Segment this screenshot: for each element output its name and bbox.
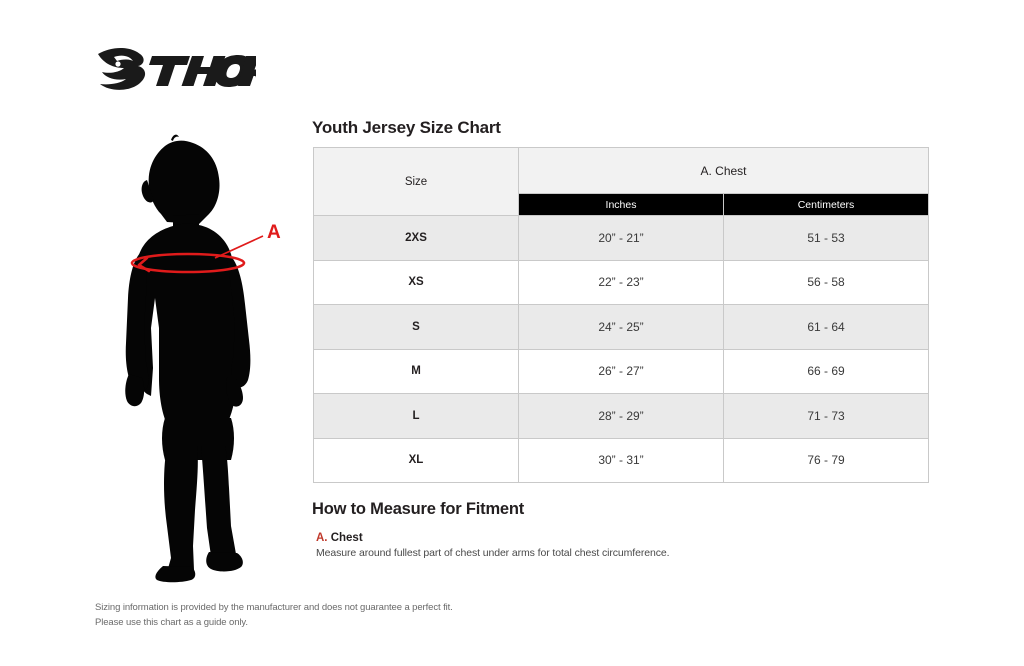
table-row: S 24” - 25” 61 - 64 (314, 305, 929, 350)
measure-description: Measure around fullest part of chest und… (316, 547, 669, 559)
size-chart-page: A Youth Jersey Size Chart Size A. Chest … (0, 0, 1024, 666)
measure-name: Chest (331, 532, 363, 544)
table-row: XS 22” - 23” 56 - 58 (314, 260, 929, 305)
cell-centimeters: 61 - 64 (724, 305, 929, 350)
cell-inches: 24” - 25” (519, 305, 724, 350)
measurement-figure: A (95, 128, 300, 583)
table-row: L 28” - 29” 71 - 73 (314, 394, 929, 439)
measure-letter: A. (316, 532, 331, 544)
thor-helmet-icon (96, 44, 256, 96)
cell-inches: 26” - 27” (519, 349, 724, 394)
cell-centimeters: 76 - 79 (724, 438, 929, 483)
header-size: Size (314, 148, 519, 216)
table-head: Size A. Chest Inches Centimeters (314, 148, 929, 216)
youth-body-silhouette: A (95, 128, 300, 583)
cell-centimeters: 66 - 69 (724, 349, 929, 394)
how-to-measure-title: How to Measure for Fitment (312, 500, 524, 519)
cell-inches: 30” - 31” (519, 438, 724, 483)
cell-inches: 22” - 23” (519, 260, 724, 305)
table-row: M 26” - 27” 66 - 69 (314, 349, 929, 394)
page-title: Youth Jersey Size Chart (312, 118, 501, 138)
figure-label-a: A (267, 222, 281, 243)
table-body: 2XS 20” - 21” 51 - 53 XS 22” - 23” 56 - … (314, 216, 929, 483)
footer-line-1: Sizing information is provided by the ma… (95, 601, 453, 616)
cell-centimeters: 51 - 53 (724, 216, 929, 261)
cell-size: M (314, 349, 519, 394)
cell-size: L (314, 394, 519, 439)
cell-centimeters: 56 - 58 (724, 260, 929, 305)
table-row: XL 30” - 31” 76 - 79 (314, 438, 929, 483)
cell-size: XS (314, 260, 519, 305)
header-chest-group: A. Chest (519, 148, 929, 194)
size-chart-table: Size A. Chest Inches Centimeters 2XS 20”… (313, 147, 929, 483)
footer-line-2: Please use this chart as a guide only. (95, 616, 453, 631)
header-unit-centimeters: Centimeters (724, 194, 929, 216)
table-header-row: Size A. Chest (314, 148, 929, 194)
cell-inches: 20” - 21” (519, 216, 724, 261)
cell-size: 2XS (314, 216, 519, 261)
table-row: 2XS 20” - 21” 51 - 53 (314, 216, 929, 261)
thor-logo (96, 44, 256, 96)
measure-item-chest: A. Chest (316, 532, 363, 544)
header-unit-inches: Inches (519, 194, 724, 216)
cell-centimeters: 71 - 73 (724, 394, 929, 439)
cell-size: XL (314, 438, 519, 483)
cell-inches: 28” - 29” (519, 394, 724, 439)
cell-size: S (314, 305, 519, 350)
footer-disclaimer: Sizing information is provided by the ma… (95, 601, 453, 630)
